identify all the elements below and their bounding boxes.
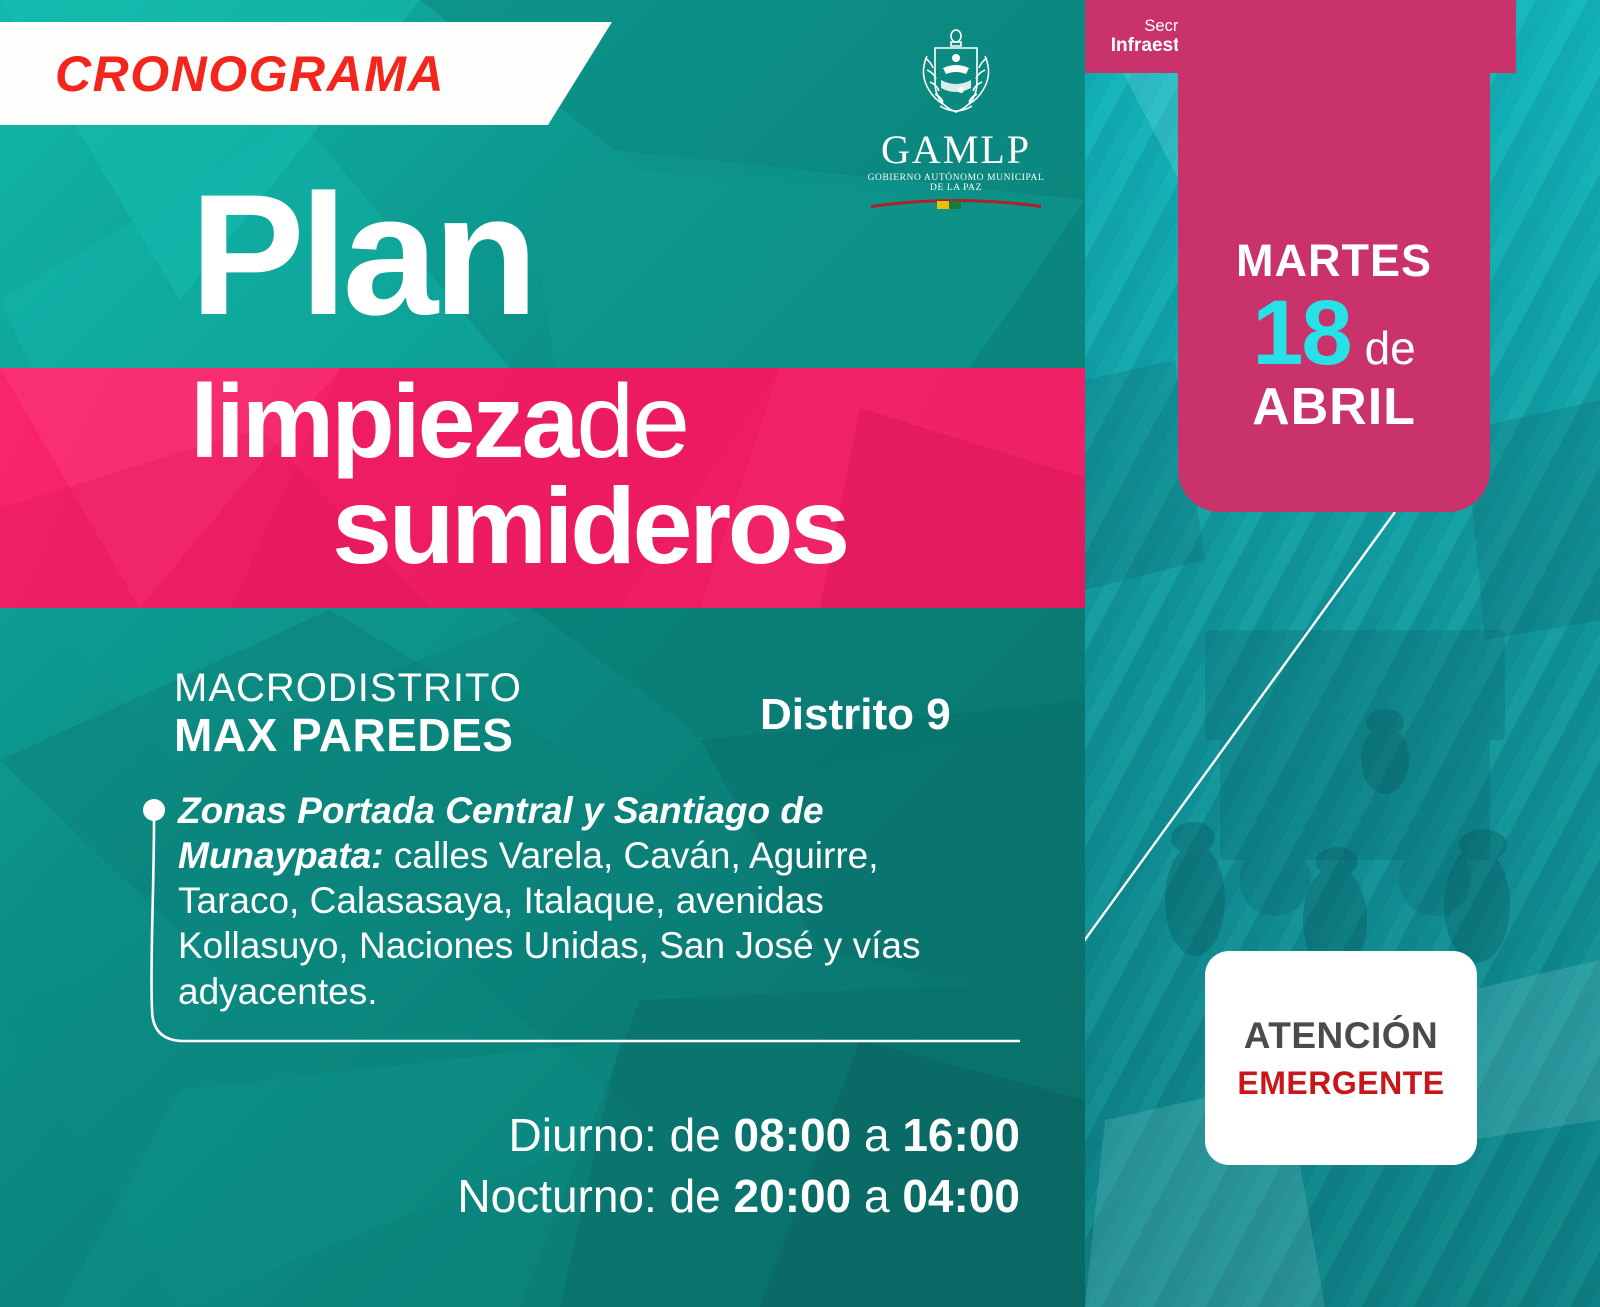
flag-underline-icon (871, 197, 1041, 209)
title-line-plan: Plan (190, 176, 533, 334)
date-weekday: MARTES (1236, 238, 1432, 283)
cronograma-ribbon: CRONOGRAMA (0, 22, 612, 125)
attention-badge: ATENCIÓN EMERGENTE (1205, 951, 1477, 1165)
diurno-end: 16:00 (902, 1109, 1020, 1161)
diurno-start: 08:00 (734, 1109, 852, 1161)
nocturno-mid: a (851, 1170, 902, 1222)
date-day: 18 (1252, 287, 1350, 379)
zone-description: Zonas Portada Central y Santiago de Muna… (178, 788, 988, 1014)
date-card: MARTES 18 de ABRIL (1178, 0, 1490, 512)
title-limpieza: limpieza (190, 364, 576, 480)
nocturno-start: 20:00 (734, 1170, 852, 1222)
title-de: de (576, 364, 688, 480)
diurno-mid: a (851, 1109, 902, 1161)
title-line-limpieza-de: limpiezade (190, 370, 688, 474)
distrito-number: Distrito 9 (760, 690, 951, 740)
diurno-label: Diurno: de (509, 1109, 734, 1161)
nocturno-end: 04:00 (902, 1170, 1020, 1222)
nocturno-label: Nocturno: de (457, 1170, 733, 1222)
date-connector: de (1365, 325, 1416, 371)
coat-of-arms-icon (897, 28, 1015, 128)
schedule-block: Diurno: de 08:00 a 16:00 Nocturno: de 20… (0, 1105, 1020, 1226)
gamlp-wordmark: GAMLP (866, 130, 1046, 170)
schedule-nocturno: Nocturno: de 20:00 a 04:00 (0, 1166, 1020, 1227)
gamlp-logo: GAMLP GOBIERNO AUTÓNOMO MUNICIPAL DE LA … (866, 28, 1046, 214)
date-month: ABRIL (1252, 381, 1416, 433)
macrodistrito-name: MAX PAREDES (174, 708, 513, 762)
cronograma-label: CRONOGRAMA (55, 45, 445, 103)
attention-line-2: EMERGENTE (1237, 1065, 1444, 1102)
macrodistrito-label: MACRODISTRITO (174, 666, 522, 711)
left-content-panel: CRONOGRAMA (0, 0, 1085, 1307)
gamlp-subtitle: GOBIERNO AUTÓNOMO MUNICIPAL DE LA PAZ (866, 173, 1046, 193)
poster-root: CRONOGRAMA (0, 0, 1600, 1307)
attention-line-1: ATENCIÓN (1244, 1015, 1438, 1057)
title-line-sumideros: sumideros (332, 472, 847, 580)
schedule-diurno: Diurno: de 08:00 a 16:00 (0, 1105, 1020, 1166)
